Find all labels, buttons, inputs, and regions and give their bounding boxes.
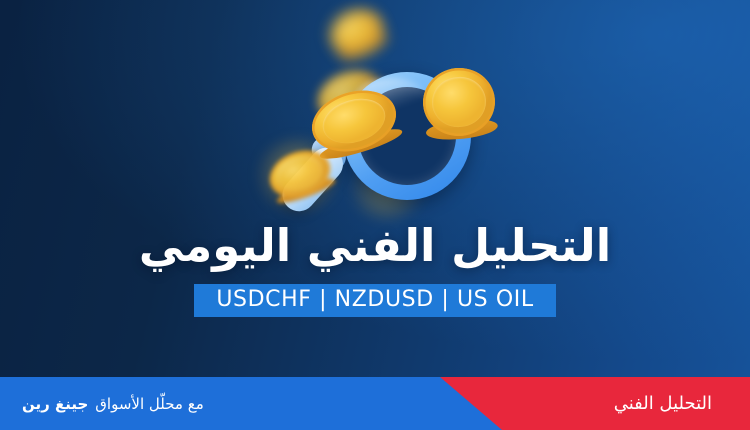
analyst-credit: مع محلّل الأسواق جينغ رين bbox=[22, 377, 204, 430]
pairs-badge-container: USDCHF | NZDUSD | US OIL bbox=[0, 284, 750, 317]
magnifier-coins-illustration bbox=[255, 0, 515, 215]
gold-coin-icon bbox=[420, 64, 499, 139]
page-title: التحليل الفني اليومي bbox=[0, 222, 750, 271]
promo-banner: التحليل الفني اليومي USDCHF | NZDUSD | U… bbox=[0, 0, 750, 430]
analyst-name: جينغ رين bbox=[22, 395, 88, 413]
footer-bar: مع محلّل الأسواق جينغ رين التحليل الفني bbox=[0, 377, 750, 430]
category-label: التحليل الفني bbox=[614, 377, 712, 430]
instrument-pairs-badge: USDCHF | NZDUSD | US OIL bbox=[194, 284, 555, 317]
analyst-credit-lead: مع محلّل الأسواق bbox=[95, 395, 203, 413]
